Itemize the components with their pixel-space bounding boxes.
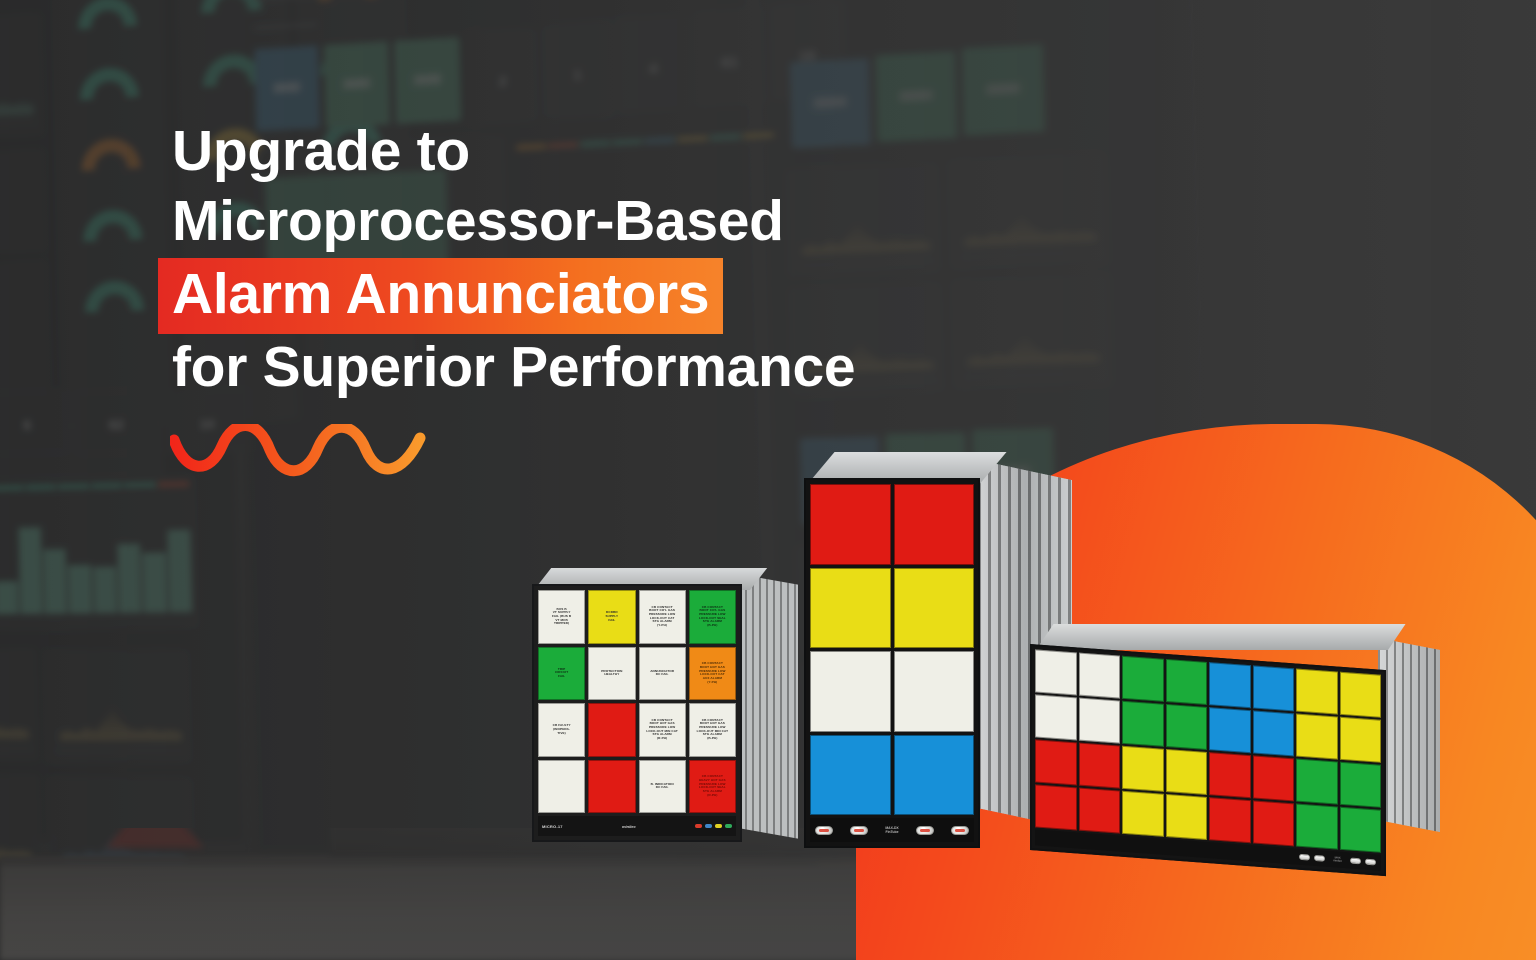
- mute-button[interactable]: [1314, 855, 1325, 862]
- annunciator-tile[interactable]: [1253, 800, 1295, 846]
- annunciator-tile[interactable]: CB CONTACTBOOT HOT GASPRESSURE LOWLOCK-O…: [639, 703, 686, 757]
- annunciator-tile[interactable]: [1209, 707, 1251, 753]
- annunciator-tile[interactable]: [1035, 649, 1077, 695]
- annunciator-tile[interactable]: [1340, 672, 1382, 718]
- brand-logo-text: MAXminilec: [1333, 856, 1342, 864]
- annunciator-tile[interactable]: [538, 760, 585, 814]
- tile-legend: CB CONTACTBOOT CO'L GASPRESSURE LOWLOCK-…: [649, 606, 675, 628]
- tile-legend: ANNUNCIATORDC FAIL: [650, 670, 674, 677]
- mute-button[interactable]: [850, 826, 868, 835]
- annunciator-tile[interactable]: BUS BVT SUPPLYFAIL (BUS BVT MCBTRIPPED): [538, 590, 585, 644]
- annunciator-tile[interactable]: [1122, 791, 1164, 837]
- annunciator-tile[interactable]: [1253, 710, 1295, 756]
- annunciator-tile[interactable]: [1079, 698, 1121, 744]
- annunciator-tile[interactable]: [1079, 788, 1121, 834]
- annunciator-tile[interactable]: [1035, 784, 1077, 830]
- annunciator-tile[interactable]: [1209, 797, 1251, 843]
- annunciator-tile[interactable]: [1166, 704, 1208, 750]
- brand-logo-text: minilec: [622, 824, 636, 829]
- annunciator-tile[interactable]: [1035, 739, 1077, 785]
- headline-line-1: Upgrade to: [172, 118, 992, 185]
- annunciator-tile[interactable]: CB CONTACTBOOT HOT GASPRESSURE LOWLOCK-O…: [689, 703, 736, 757]
- annunciator-tile[interactable]: [894, 651, 975, 732]
- tile-legend: BUS BVT SUPPLYFAIL (BUS BVT MCBTRIPPED): [552, 608, 571, 626]
- annunciator-face-grid: MAXminilec: [1030, 644, 1386, 876]
- tile-legend: CB CONTACTBOOT HOT GASPRESSURE LOWLOCK-O…: [699, 662, 725, 684]
- annunciator-tile[interactable]: PROTECTIONHEALTHY: [588, 647, 635, 701]
- annunciator-face-grid: MAX-DXFinTube: [804, 478, 980, 848]
- tile-legend: CB CONTACTHEAVY HOT GASPRESSURE LOWLOCK-…: [699, 775, 726, 797]
- annunciator-tile[interactable]: [1209, 662, 1251, 708]
- annunciator-tile[interactable]: [1079, 653, 1121, 699]
- annunciator-tile[interactable]: [1166, 794, 1208, 840]
- annunciator-tile[interactable]: [1296, 804, 1338, 850]
- annunciator-tile[interactable]: [894, 484, 975, 565]
- annunciator-tile[interactable]: CB CONTACTBOOT CO'L GASPRESSURE LOWLOCK-…: [639, 590, 686, 644]
- wavy-underline-icon: [170, 424, 440, 480]
- tile-legend: CB CONTACTBOOT HOT GASPRESSURE LOWLOCK-O…: [646, 719, 677, 741]
- tile-legend: CB CONTACTBOOT HOT GASPRESSURE LOWLOCK-O…: [697, 719, 728, 741]
- annunciator-tile[interactable]: [588, 760, 635, 814]
- annunciator-tile[interactable]: CB CONTACTHEAVY HOT GASPRESSURE LOWLOCK-…: [689, 760, 736, 814]
- status-indicator-group: [695, 824, 732, 828]
- headline-block: Upgrade to Microprocessor-Based Alarm An…: [172, 118, 992, 404]
- annunciator-tile[interactable]: [1340, 717, 1382, 763]
- annunciator-button-bar: MAX-DXFinTube: [810, 818, 974, 842]
- annunciator-tile[interactable]: [1166, 749, 1208, 795]
- annunciator-tile[interactable]: CB FAULTY(INOPERA-TIVE): [538, 703, 585, 757]
- housing-top: [1036, 624, 1406, 650]
- indicator-yellow[interactable]: [715, 824, 722, 828]
- annunciator-tile[interactable]: [1340, 807, 1382, 853]
- annunciator-tile[interactable]: [894, 735, 975, 816]
- tile-legend: CB FAULTY(INOPERA-TIVE): [553, 724, 571, 735]
- annunciator-tile[interactable]: [1296, 759, 1338, 805]
- annunciator-tile[interactable]: CB CONTACTBOOT CO'L GASPRESSURE LOWLOCK-…: [689, 590, 736, 644]
- annunciator-tile[interactable]: B. INDICATIONDC FAIL: [639, 760, 686, 814]
- headline-line-4: for Superior Performance: [172, 334, 992, 401]
- tile-legend: B. INDICATIONDC FAIL: [651, 783, 674, 790]
- annunciator-unit-4x4-legend[interactable]: BUS BVT SUPPLYFAIL (BUS BVT MCBTRIPPED) …: [524, 566, 786, 848]
- annunciator-tile[interactable]: [1122, 746, 1164, 792]
- ack-button[interactable]: [1350, 857, 1361, 864]
- annunciator-tile[interactable]: [1122, 701, 1164, 747]
- annunciator-tile[interactable]: DCDBDSUPPLYFAIL: [588, 590, 635, 644]
- test-button[interactable]: [815, 826, 833, 835]
- annunciator-unit-8x4-solid[interactable]: MAXminilec: [1022, 612, 1432, 856]
- ack-button[interactable]: [916, 826, 934, 835]
- annunciator-tile[interactable]: CB CONTACTBOOT HOT GASPRESSURE LOWLOCK-O…: [689, 647, 736, 701]
- annunciator-tile[interactable]: [1166, 659, 1208, 705]
- annunciator-tile[interactable]: [1296, 714, 1338, 760]
- annunciator-tile[interactable]: [1340, 762, 1382, 808]
- annunciator-tile[interactable]: [810, 484, 891, 565]
- annunciator-tile[interactable]: [1253, 665, 1295, 711]
- test-button[interactable]: [1299, 854, 1310, 861]
- brand-logo-text: MAX-DXFinTube: [885, 826, 898, 835]
- poster-canvas: 2 1 4 61 16 6 62 10: [0, 0, 1536, 960]
- annunciator-tile[interactable]: [1079, 743, 1121, 789]
- indicator-green[interactable]: [725, 824, 732, 828]
- annunciator-brand-bar: MICRO-17 minilec: [538, 816, 736, 836]
- headline-line-2: Microprocessor-Based: [172, 188, 992, 255]
- annunciator-tile[interactable]: [810, 651, 891, 732]
- indicator-red[interactable]: [695, 824, 702, 828]
- annunciator-tile[interactable]: [1296, 669, 1338, 715]
- annunciator-tile[interactable]: [1035, 694, 1077, 740]
- model-label: MICRO-17: [542, 824, 563, 829]
- annunciator-face-grid: BUS BVT SUPPLYFAIL (BUS BVT MCBTRIPPED) …: [532, 584, 742, 842]
- tile-legend: PROTECTIONHEALTHY: [601, 670, 622, 677]
- annunciator-tile[interactable]: [894, 568, 975, 649]
- annunciator-tile[interactable]: [1209, 752, 1251, 798]
- annunciator-tile[interactable]: TRIPCIRCUITFAIL: [538, 647, 585, 701]
- tile-legend: TRIPCIRCUITFAIL: [555, 668, 568, 679]
- annunciator-tile[interactable]: [588, 703, 635, 757]
- reset-button[interactable]: [951, 826, 969, 835]
- housing-side-vents: [1378, 638, 1440, 832]
- tile-legend: CB CONTACTBOOT CO'L GASPRESSURE LOWLOCK-…: [699, 606, 726, 628]
- indicator-blue[interactable]: [705, 824, 712, 828]
- reset-button[interactable]: [1365, 859, 1376, 866]
- annunciator-tile[interactable]: [810, 735, 891, 816]
- annunciator-tile[interactable]: ANNUNCIATORDC FAIL: [639, 647, 686, 701]
- tile-legend: DCDBDSUPPLYFAIL: [606, 611, 619, 622]
- annunciator-tile[interactable]: [1122, 656, 1164, 702]
- annunciator-tile[interactable]: [1253, 755, 1295, 801]
- annunciator-tile[interactable]: [810, 568, 891, 649]
- headline-line-3-highlight: Alarm Annunciators: [158, 258, 723, 334]
- housing-side-vents: [738, 574, 798, 839]
